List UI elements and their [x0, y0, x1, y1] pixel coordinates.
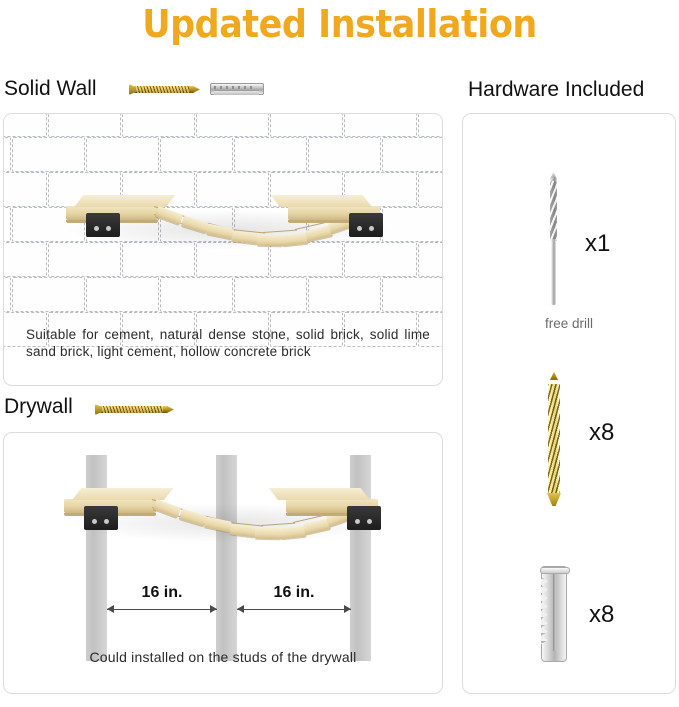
drill-count: x1 [585, 230, 610, 258]
left-bracket [84, 506, 118, 530]
dimension-label-right: 16 in. [237, 584, 351, 602]
bridge-slat [257, 235, 283, 246]
dimension-line-left [107, 609, 217, 610]
anchor-count: x8 [589, 601, 614, 629]
screw-icon [100, 406, 168, 413]
drywall-panel: 16 in. 16 in. Could installed on the stu… [3, 432, 443, 694]
dimension-arrow-icon [107, 605, 114, 613]
dimension-label-left: 16 in. [107, 584, 217, 602]
bridge-slat [255, 528, 281, 539]
dimension-arrow-icon [344, 605, 351, 613]
right-bracket [349, 213, 383, 237]
wall-bridge-illustration [4, 433, 442, 663]
dimension-arrow-icon [210, 605, 217, 613]
wall-bridge-illustration [4, 114, 442, 322]
drill-label: free drill [463, 316, 675, 331]
drill-bit-icon [549, 177, 558, 305]
wall-anchor-icon [210, 83, 264, 95]
page-title: Updated Installation [27, 0, 652, 48]
solid-wall-heading: Solid Wall [4, 76, 97, 102]
right-bracket [347, 506, 381, 530]
dimension-arrow-icon [237, 605, 244, 613]
left-bracket [86, 213, 120, 237]
solid-wall-panel: Suitable for cement, natural dense stone… [3, 113, 443, 386]
hardware-included-heading: Hardware Included [468, 77, 644, 103]
drywall-caption: Could installed on the studs of the dryw… [4, 649, 442, 666]
screw-icon [547, 378, 561, 506]
wall-anchor-icon [541, 566, 567, 662]
screw-count: x8 [589, 419, 614, 447]
hardware-panel: x1 free drill x8 x8 [462, 113, 676, 694]
solid-wall-caption: Suitable for cement, natural dense stone… [26, 326, 430, 360]
drywall-heading: Drywall [4, 394, 73, 420]
dimension-line-right [237, 609, 351, 610]
screw-icon [134, 86, 194, 93]
